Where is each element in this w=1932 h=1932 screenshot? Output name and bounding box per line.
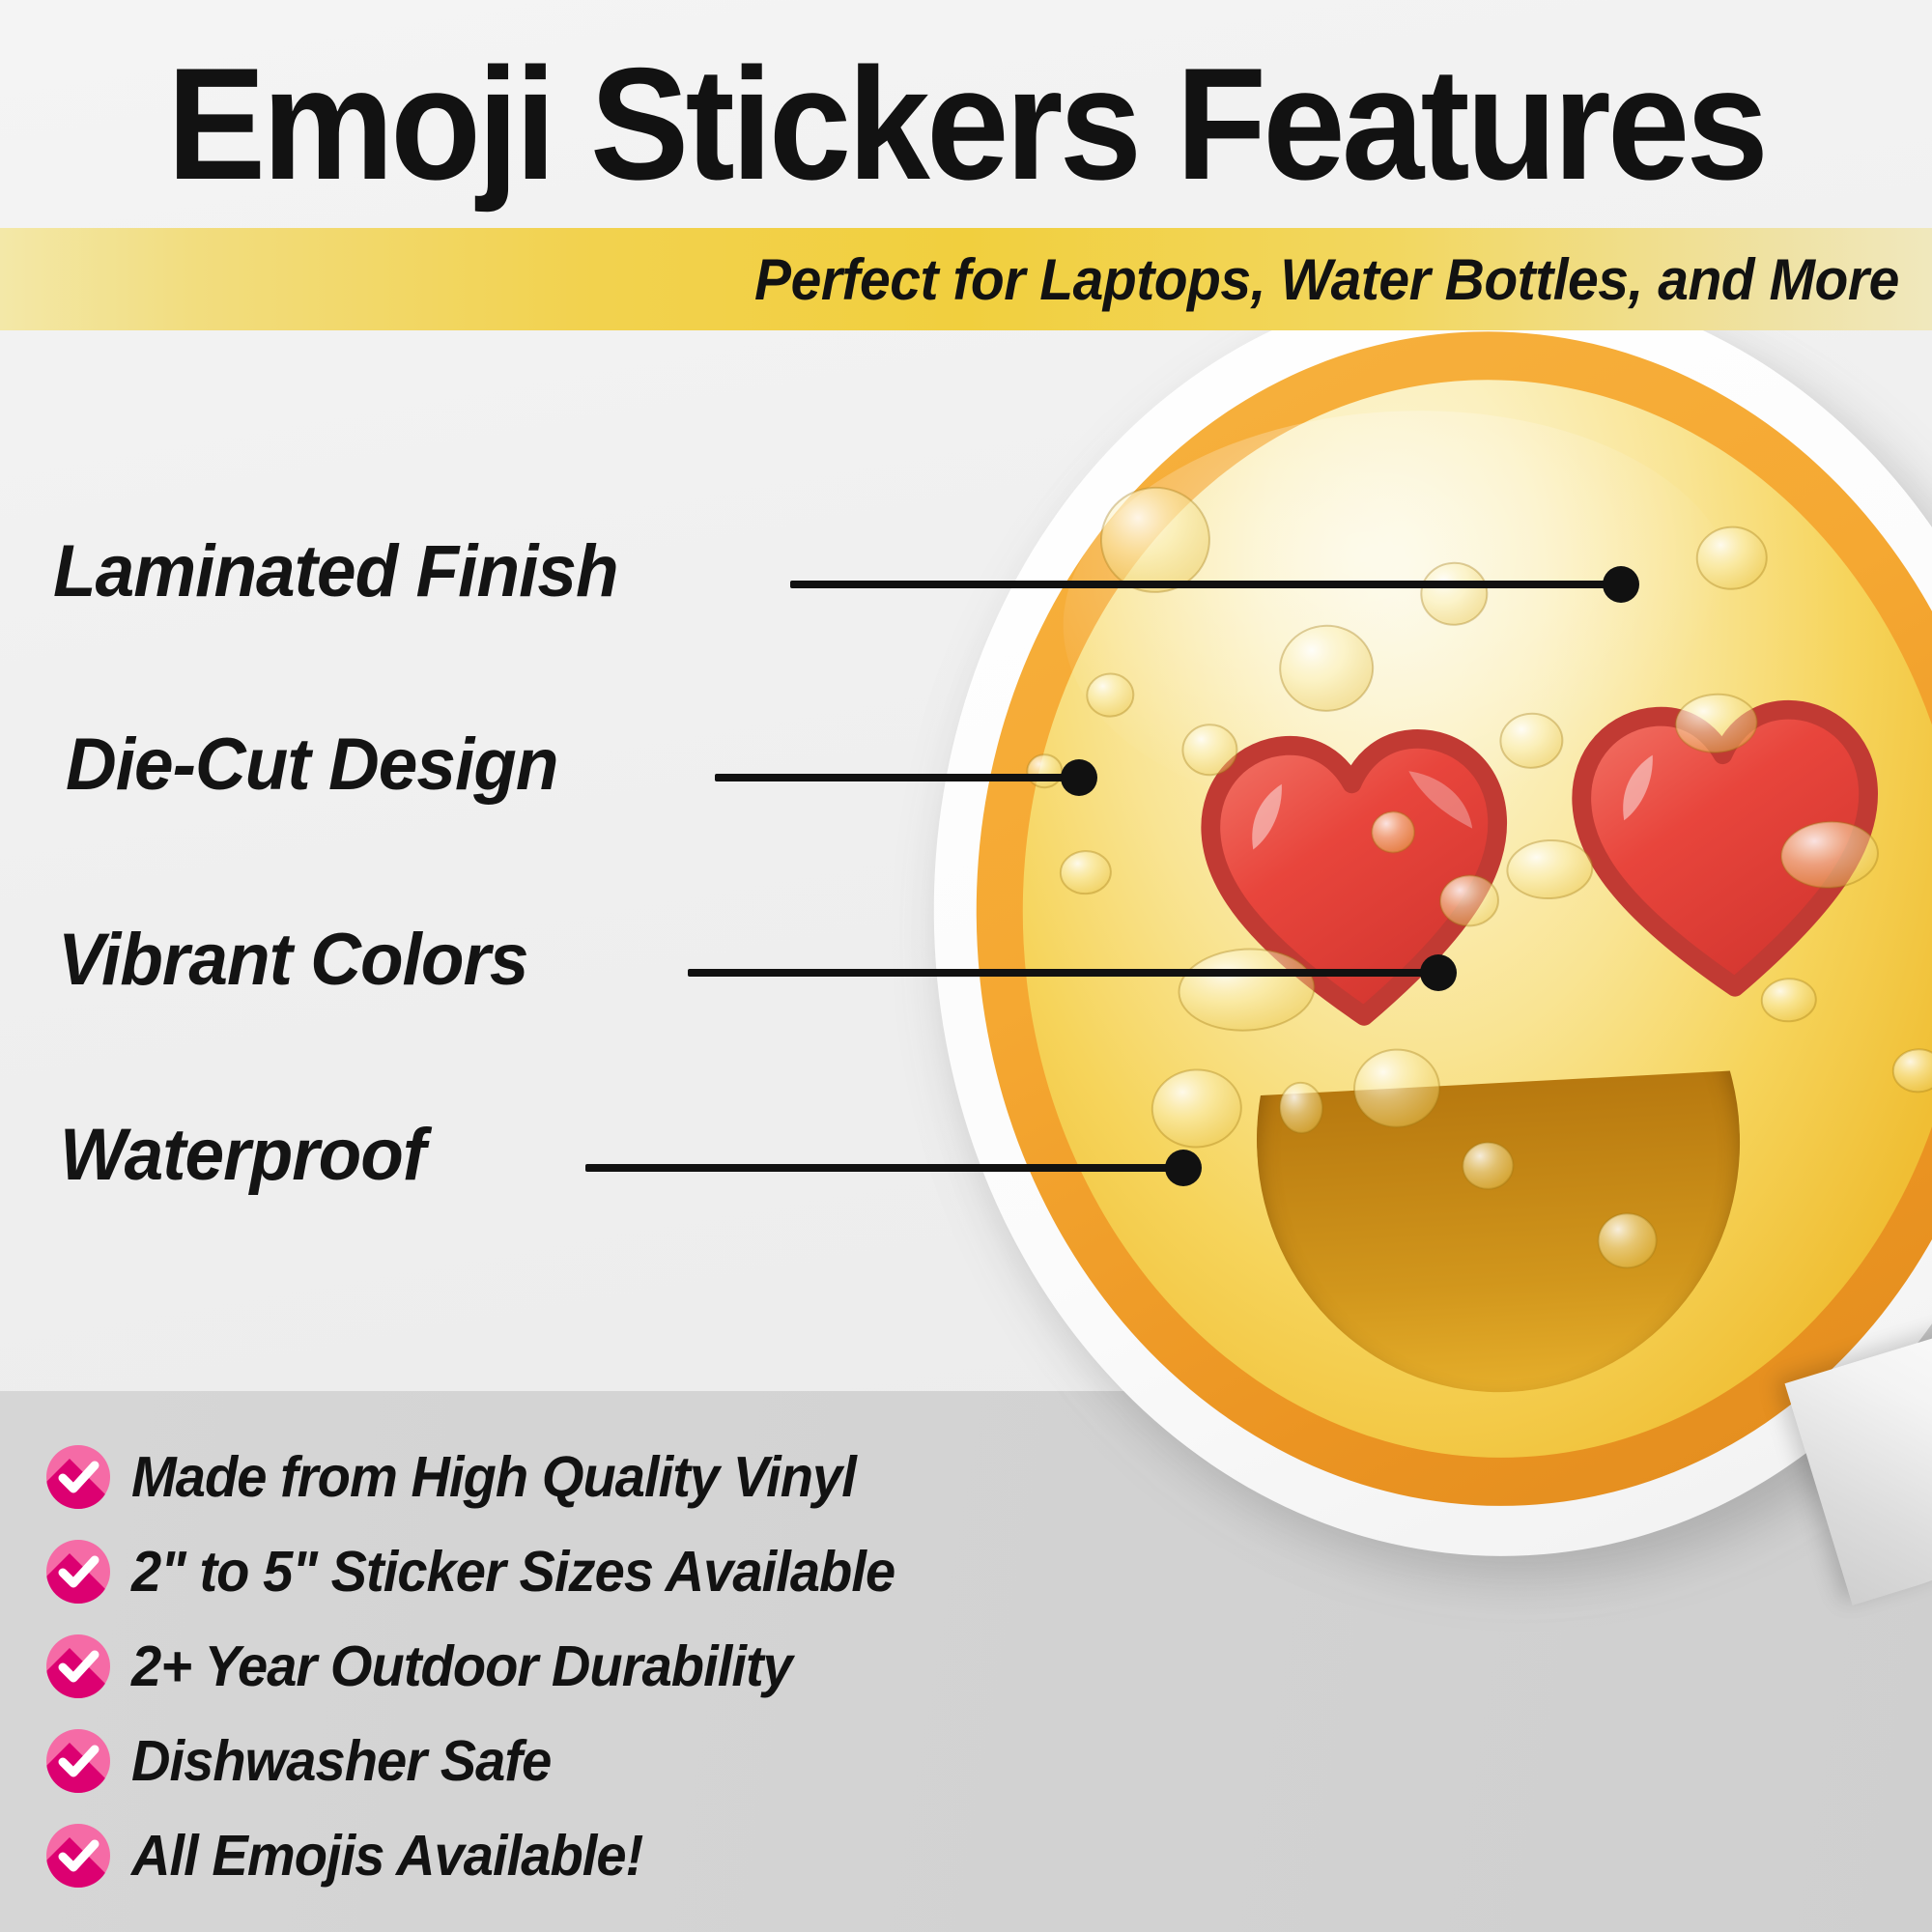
callout-label-laminated-finish: Laminated Finish	[53, 529, 618, 613]
callout-dot-waterproof	[1165, 1150, 1202, 1186]
check-circle-icon	[46, 1634, 110, 1698]
callout-dot-die-cut-design	[1061, 759, 1097, 796]
check-circle-icon	[46, 1540, 110, 1604]
check-circle-icon	[46, 1824, 110, 1888]
checklist-item-label: 2+ Year Outdoor Durability	[131, 1634, 792, 1699]
checklist-item-label: Dishwasher Safe	[131, 1728, 551, 1794]
checklist-item-label: Made from High Quality Vinyl	[131, 1444, 856, 1510]
checklist-item-label: All Emojis Available!	[131, 1823, 642, 1889]
infographic-poster: Emoji Stickers Features Perfect for Lapt…	[0, 0, 1932, 1932]
callout-leader-line-laminated-finish	[790, 581, 1623, 588]
callout-label-vibrant-colors: Vibrant Colors	[58, 918, 528, 1002]
list-item: All Emojis Available!	[46, 1808, 1186, 1903]
callout-label-waterproof: Waterproof	[60, 1113, 425, 1197]
callout-label-die-cut-design: Die-Cut Design	[66, 723, 557, 807]
list-item: Made from High Quality Vinyl	[46, 1430, 1186, 1524]
checklist-item-label: 2" to 5" Sticker Sizes Available	[131, 1539, 895, 1605]
list-item: 2" to 5" Sticker Sizes Available	[46, 1524, 1186, 1619]
check-circle-icon	[46, 1445, 110, 1509]
callout-leader-line-vibrant-colors	[688, 969, 1451, 977]
callout-leader-line-waterproof	[585, 1164, 1196, 1172]
callout-dot-vibrant-colors	[1420, 954, 1457, 991]
check-circle-icon	[46, 1729, 110, 1793]
callout-dot-laminated-finish	[1603, 566, 1639, 603]
list-item: Dishwasher Safe	[46, 1714, 1186, 1808]
callout-leader-line-die-cut-design	[715, 774, 1082, 781]
feature-checklist: Made from High Quality Vinyl 2" to 5" St…	[46, 1430, 1186, 1903]
list-item: 2+ Year Outdoor Durability	[46, 1619, 1186, 1714]
